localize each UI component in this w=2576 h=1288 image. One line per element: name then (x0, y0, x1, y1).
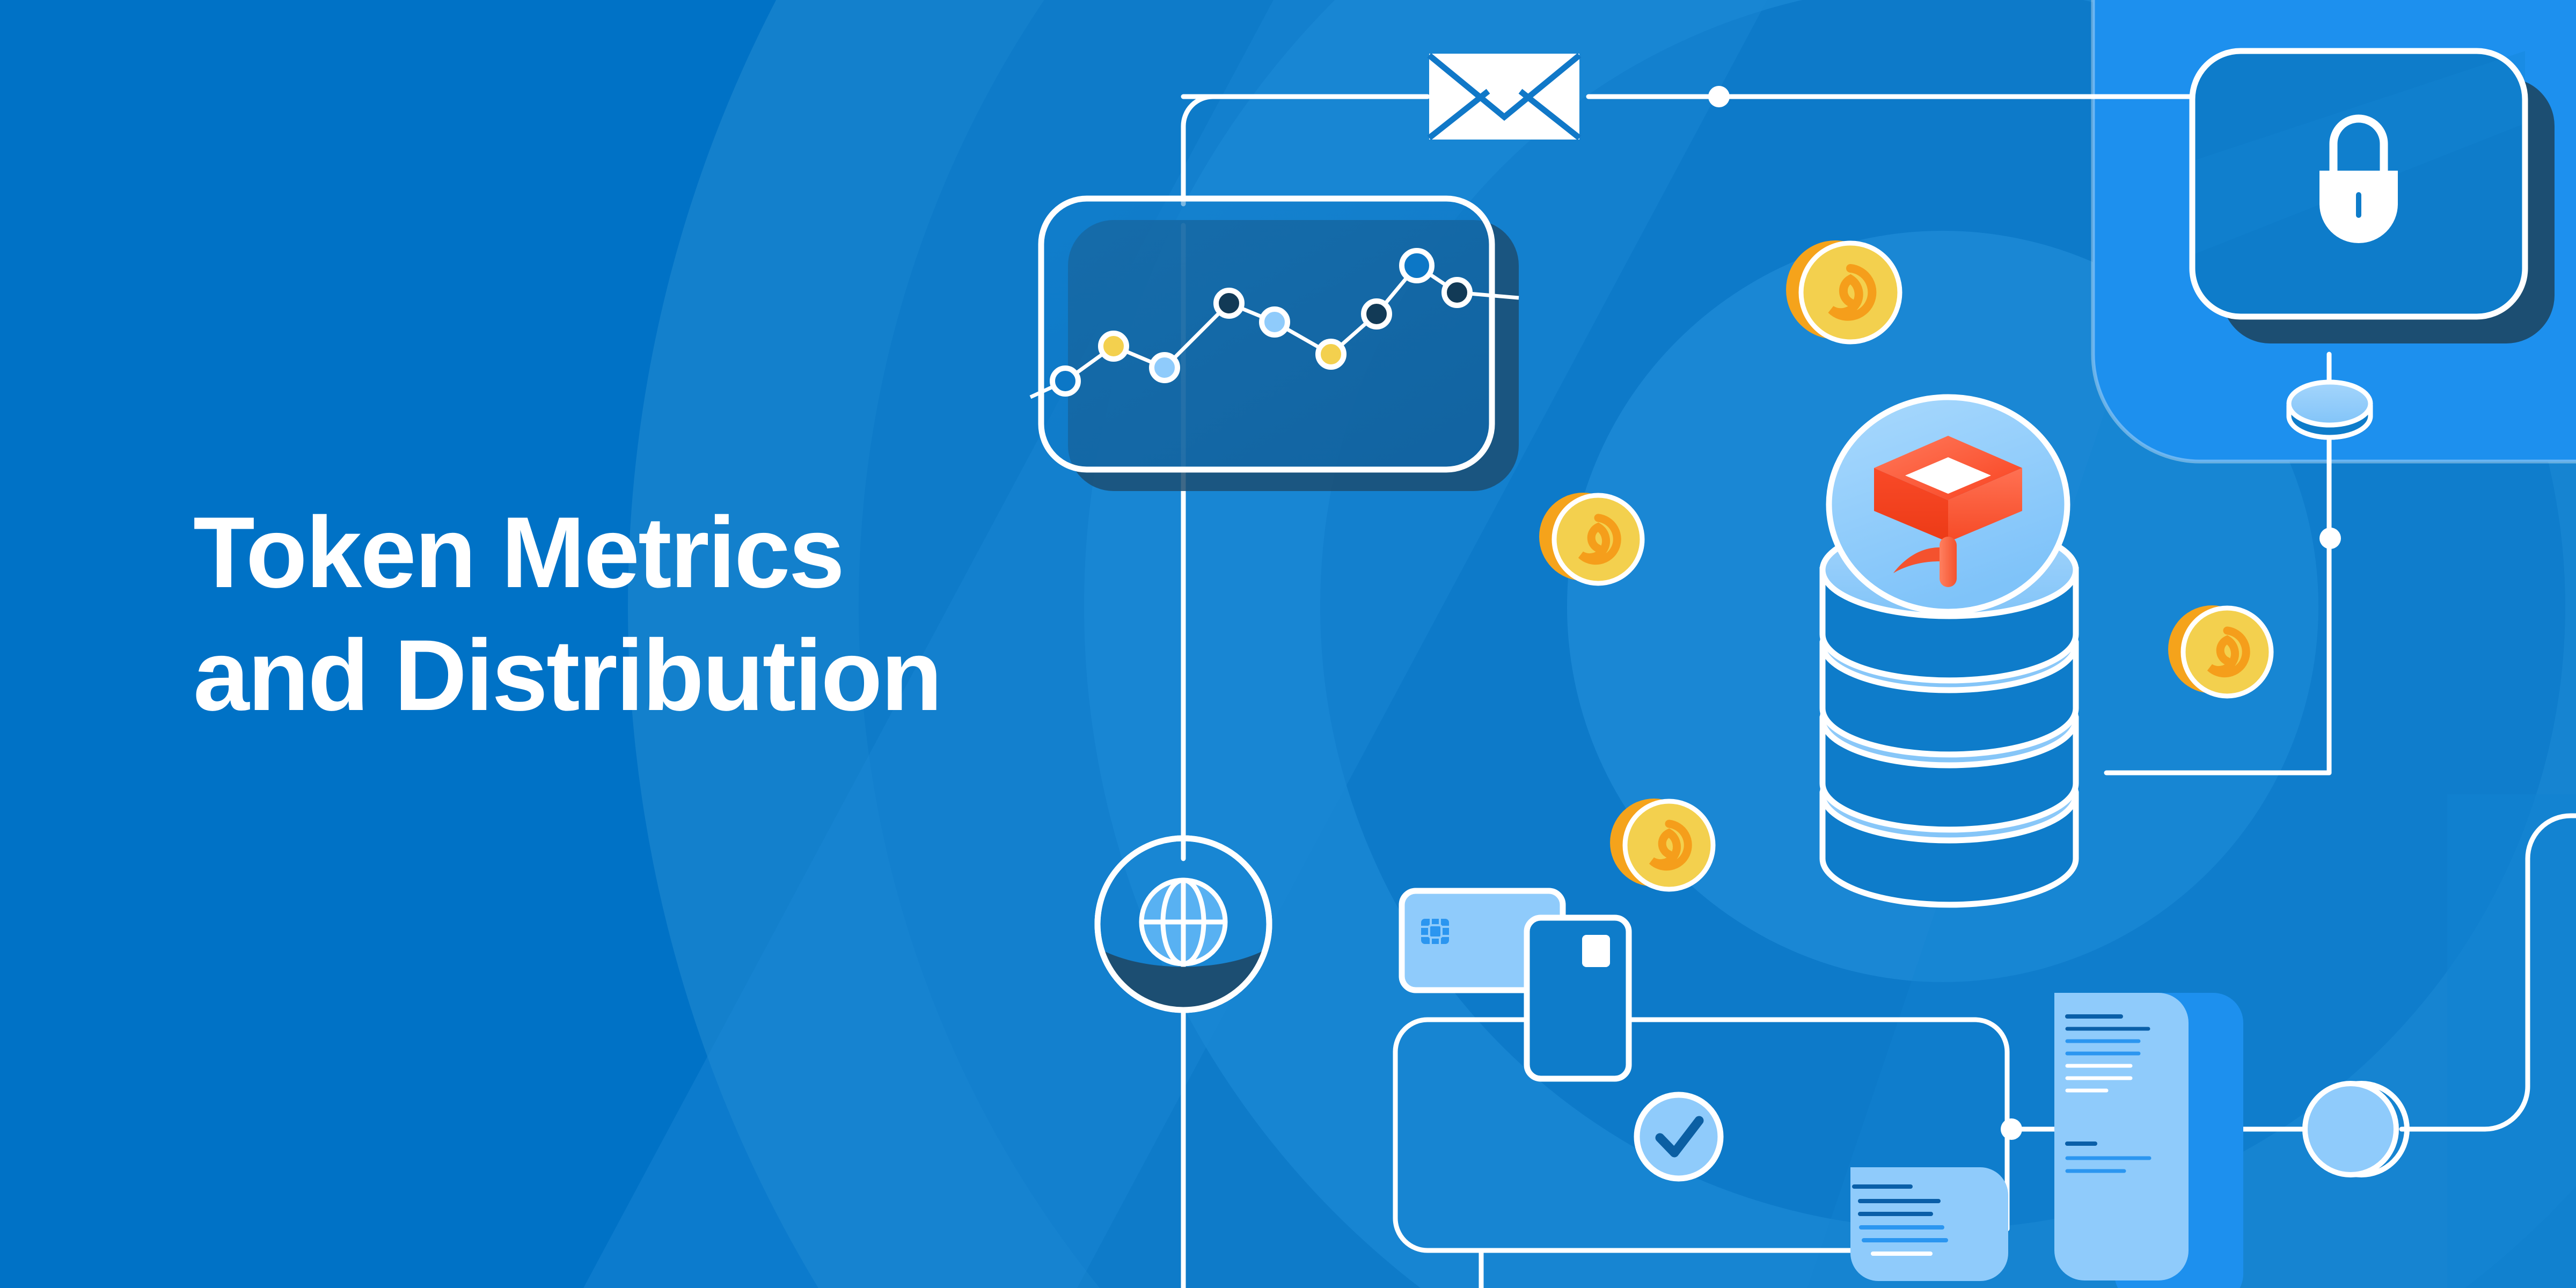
receipt-document (2054, 993, 2243, 1288)
connector-dot-bottom (2001, 1118, 2022, 1140)
phone-screen (1582, 935, 1610, 967)
single-database-disc (2289, 382, 2370, 437)
hero-illustration: Token Metrics and Distribution (0, 0, 2576, 1288)
phone-body (1527, 918, 1629, 1079)
chart-point-navy-1 (1216, 290, 1242, 316)
checkmark-circle (1637, 1095, 1721, 1179)
gold-coin (2168, 605, 2271, 696)
sphere-node (2305, 1084, 2407, 1175)
lock-card[interactable] (2192, 51, 2555, 343)
page-title: Token Metrics and Distribution (193, 491, 1138, 737)
chart-point-gold-1 (1101, 333, 1126, 359)
chart-point-gold-2 (1318, 341, 1344, 367)
chart-point-white-1 (1052, 368, 1078, 394)
receipt-body (2054, 993, 2189, 1280)
chart-point-lightblue-2 (1262, 309, 1287, 335)
line-chart-card[interactable] (1030, 199, 1519, 491)
chart-point-white-2 (1402, 251, 1432, 281)
check-circle-bg (1637, 1095, 1721, 1179)
envelope-icon (1429, 54, 1579, 140)
chart-point-navy-3 (1444, 280, 1470, 305)
note-body (1850, 1167, 2008, 1281)
connector-dot-right (2319, 528, 2341, 549)
note-document (1850, 1167, 2008, 1281)
chart-point-lightblue-1 (1152, 355, 1177, 380)
connector-dot-top (1708, 86, 1730, 107)
token-logo-badge (1829, 397, 2067, 612)
gold-coin (1610, 799, 1713, 889)
globe-icon (1097, 838, 1269, 1010)
sphere-body (2305, 1084, 2396, 1175)
chart-point-navy-2 (1364, 301, 1389, 327)
phone-terminal (1527, 918, 1629, 1079)
gold-coin (1539, 493, 1642, 583)
gold-coin (1786, 240, 1900, 342)
emv-chip-icon (1421, 919, 1449, 944)
